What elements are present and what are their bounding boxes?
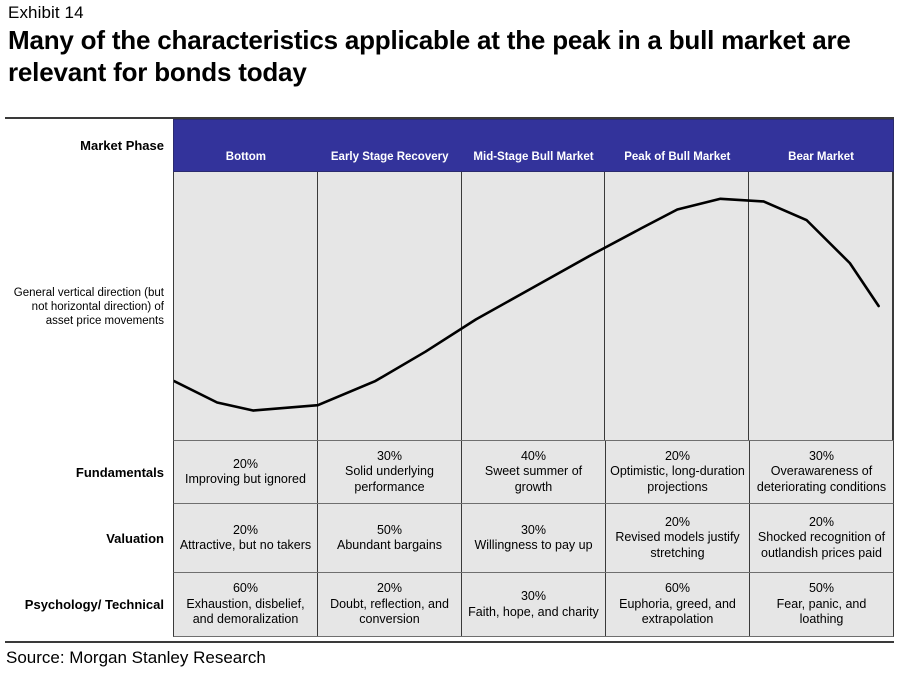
price-direction-row: General vertical direction (but not hori… xyxy=(5,172,894,441)
valuation-cell-early-stage-recovery[interactable]: 50% Abundant bargains xyxy=(318,504,462,572)
valuation-cell-peak-of-bull-market[interactable]: 20% Revised models justify stretching xyxy=(606,504,750,572)
valuation-cell-bear-market[interactable]: 20% Shocked recognition of outlandish pr… xyxy=(750,504,893,572)
psychology-pct-early-stage-recovery: 20% xyxy=(377,581,402,597)
chart-column-mid-stage-bull-market xyxy=(462,172,606,440)
valuation-pct-peak-of-bull-market: 20% xyxy=(665,515,690,531)
chart-column-bear-market xyxy=(749,172,893,440)
phase-header-bear-market[interactable]: Bear Market xyxy=(749,120,893,171)
phase-header-bottom[interactable]: Bottom xyxy=(174,120,318,171)
fundamentals-cell-bottom[interactable]: 20% Improving but ignored xyxy=(174,441,318,503)
psychology-text-mid-stage-bull-market: Faith, hope, and charity xyxy=(468,605,599,621)
valuation-pct-bear-market: 20% xyxy=(809,515,834,531)
exhibit-page: Exhibit 14 Many of the characteristics a… xyxy=(0,0,899,676)
market-cycle-curve-chart xyxy=(174,172,893,440)
fundamentals-pct-peak-of-bull-market: 20% xyxy=(665,449,690,465)
fundamentals-cell-early-stage-recovery[interactable]: 30% Solid underlying performance xyxy=(318,441,462,503)
psychology-cell-peak-of-bull-market[interactable]: 60% Euphoria, greed, and extrapolation xyxy=(606,573,750,636)
psychology-cell-early-stage-recovery[interactable]: 20% Doubt, reflection, and conversion xyxy=(318,573,462,636)
row-label-psychology: Psychology/ Technical xyxy=(5,573,173,637)
psychology-text-early-stage-recovery: Doubt, reflection, and conversion xyxy=(322,597,457,628)
valuation-row: Valuation 20% Attractive, but no takers … xyxy=(5,504,894,573)
psychology-pct-mid-stage-bull-market: 30% xyxy=(521,589,546,605)
fundamentals-text-mid-stage-bull-market: Sweet summer of growth xyxy=(466,464,601,495)
valuation-cells: 20% Attractive, but no takers 50% Abunda… xyxy=(173,504,894,573)
fundamentals-pct-bear-market: 30% xyxy=(809,449,834,465)
fundamentals-pct-early-stage-recovery: 30% xyxy=(377,449,402,465)
chart-column-bottom xyxy=(174,172,318,440)
valuation-text-early-stage-recovery: Abundant bargains xyxy=(337,538,442,554)
valuation-pct-mid-stage-bull-market: 30% xyxy=(521,523,546,539)
bottom-divider xyxy=(5,641,894,643)
psychology-cell-bottom[interactable]: 60% Exhaustion, disbelief, and demoraliz… xyxy=(174,573,318,636)
source-note: Source: Morgan Stanley Research xyxy=(6,647,266,669)
psychology-text-bottom: Exhaustion, disbelief, and demoralizatio… xyxy=(178,597,313,628)
market-phase-cells: Bottom Early Stage Recovery Mid-Stage Bu… xyxy=(173,119,894,172)
psychology-cell-mid-stage-bull-market[interactable]: 30% Faith, hope, and charity xyxy=(462,573,606,636)
row-label-market-phase: Market Phase xyxy=(5,119,173,172)
valuation-pct-early-stage-recovery: 50% xyxy=(377,523,402,539)
phase-header-peak-of-bull-market[interactable]: Peak of Bull Market xyxy=(605,120,749,171)
valuation-cell-mid-stage-bull-market[interactable]: 30% Willingness to pay up xyxy=(462,504,606,572)
fundamentals-text-bottom: Improving but ignored xyxy=(185,472,306,488)
psychology-pct-bear-market: 50% xyxy=(809,581,834,597)
page-title: Many of the characteristics applicable a… xyxy=(8,24,888,88)
fundamentals-row: Fundamentals 20% Improving but ignored 3… xyxy=(5,441,894,504)
valuation-text-peak-of-bull-market: Revised models justify stretching xyxy=(610,530,745,561)
row-label-price-direction: General vertical direction (but not hori… xyxy=(5,172,173,441)
price-direction-cells xyxy=(173,172,894,441)
valuation-text-mid-stage-bull-market: Willingness to pay up xyxy=(474,538,592,554)
row-label-fundamentals: Fundamentals xyxy=(5,441,173,504)
psychology-cells: 60% Exhaustion, disbelief, and demoraliz… xyxy=(173,573,894,637)
exhibit-grid: Market Phase Bottom Early Stage Recovery… xyxy=(5,119,894,639)
row-label-valuation: Valuation xyxy=(5,504,173,573)
fundamentals-cell-bear-market[interactable]: 30% Overawareness of deteriorating condi… xyxy=(750,441,893,503)
fundamentals-text-bear-market: Overawareness of deteriorating condition… xyxy=(754,464,889,495)
psychology-pct-bottom: 60% xyxy=(233,581,258,597)
fundamentals-text-early-stage-recovery: Solid underlying performance xyxy=(322,464,457,495)
valuation-pct-bottom: 20% xyxy=(233,523,258,539)
psychology-pct-peak-of-bull-market: 60% xyxy=(665,581,690,597)
psychology-cell-bear-market[interactable]: 50% Fear, panic, and loathing xyxy=(750,573,893,636)
chart-column-peak-of-bull-market xyxy=(605,172,749,440)
fundamentals-cells: 20% Improving but ignored 30% Solid unde… xyxy=(173,441,894,504)
market-phase-row: Market Phase Bottom Early Stage Recovery… xyxy=(5,119,894,172)
psychology-text-bear-market: Fear, panic, and loathing xyxy=(754,597,889,628)
fundamentals-text-peak-of-bull-market: Optimistic, long-duration projections xyxy=(610,464,745,495)
valuation-cell-bottom[interactable]: 20% Attractive, but no takers xyxy=(174,504,318,572)
fundamentals-cell-mid-stage-bull-market[interactable]: 40% Sweet summer of growth xyxy=(462,441,606,503)
fundamentals-pct-bottom: 20% xyxy=(233,457,258,473)
valuation-text-bear-market: Shocked recognition of outlandish prices… xyxy=(754,530,889,561)
phase-header-early-stage-recovery[interactable]: Early Stage Recovery xyxy=(318,120,462,171)
psychology-row: Psychology/ Technical 60% Exhaustion, di… xyxy=(5,573,894,637)
psychology-text-peak-of-bull-market: Euphoria, greed, and extrapolation xyxy=(610,597,745,628)
exhibit-label: Exhibit 14 xyxy=(8,2,84,24)
fundamentals-cell-peak-of-bull-market[interactable]: 20% Optimistic, long-duration projection… xyxy=(606,441,750,503)
valuation-text-bottom: Attractive, but no takers xyxy=(180,538,311,554)
fundamentals-pct-mid-stage-bull-market: 40% xyxy=(521,449,546,465)
phase-header-mid-stage-bull-market[interactable]: Mid-Stage Bull Market xyxy=(462,120,606,171)
chart-column-early-stage-recovery xyxy=(318,172,462,440)
